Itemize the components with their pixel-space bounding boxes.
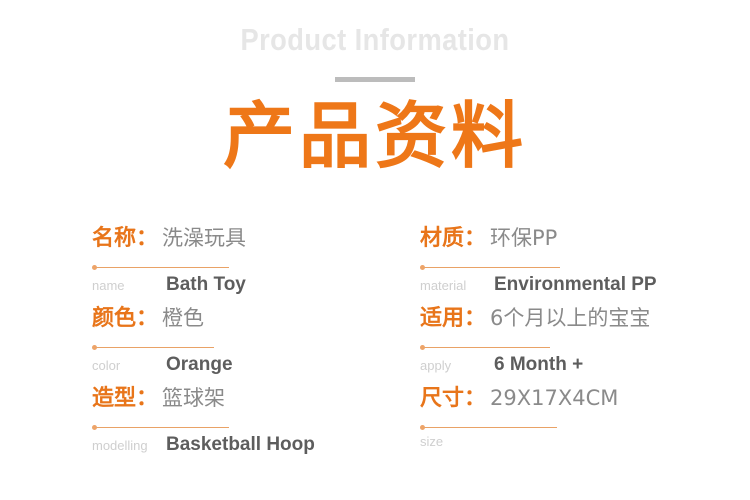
spec-value-modelling-en: Basketball Hoop <box>166 435 315 454</box>
spec-row-modelling: 造型： 篮球架 modelling Basketball Hoop <box>92 388 392 468</box>
spec-en-line: modelling Basketball Hoop <box>92 435 392 461</box>
underline-bar <box>422 427 557 428</box>
spec-value-color-cn: 橙色 <box>162 308 204 329</box>
spec-cn-line: 材质： 环保PP <box>420 228 730 258</box>
underline-dot <box>420 425 425 430</box>
spec-label-modelling-cn: 造型： <box>92 388 158 410</box>
spec-underline <box>92 264 392 272</box>
spec-cn-line: 名称： 洗澡玩具 <box>92 228 392 258</box>
spec-value-name-cn: 洗澡玩具 <box>162 228 246 249</box>
spec-underline <box>420 424 730 432</box>
spec-row-color: 颜色： 橙色 color Orange <box>92 308 392 388</box>
spec-label-color-en: color <box>92 359 166 372</box>
spec-column-right: 材质： 环保PP material Environmental PP 适用： 6… <box>420 228 730 468</box>
spec-cn-line: 尺寸： 29X17X4CM <box>420 388 730 418</box>
spec-value-color-en: Orange <box>166 355 233 374</box>
spec-underline <box>92 344 392 352</box>
underline-dot <box>420 345 425 350</box>
spec-cn-line: 造型： 篮球架 <box>92 388 392 418</box>
spec-underline <box>92 424 392 432</box>
page-title: 产品资料 <box>0 100 750 172</box>
underline-dot <box>420 265 425 270</box>
page-header: Product Information 产品资料 <box>0 0 750 172</box>
spec-value-name-en: Bath Toy <box>166 275 246 294</box>
spec-label-size-cn: 尺寸： <box>420 388 486 410</box>
spec-row-name: 名称： 洗澡玩具 name Bath Toy <box>92 228 392 308</box>
spec-value-modelling-cn: 篮球架 <box>162 388 225 409</box>
underline-dot <box>92 425 97 430</box>
underline-bar <box>422 267 560 268</box>
spec-en-line: color Orange <box>92 355 392 381</box>
spec-label-name-en: name <box>92 279 166 292</box>
underline-bar <box>94 427 229 428</box>
underline-dot <box>92 345 97 350</box>
spec-label-color-cn: 颜色： <box>92 308 158 330</box>
spec-en-line: material Environmental PP <box>420 275 730 301</box>
spec-row-apply: 适用： 6个月以上的宝宝 apply 6 Month + <box>420 308 730 388</box>
spec-label-apply-en: apply <box>420 359 494 372</box>
spec-cn-line: 颜色： 橙色 <box>92 308 392 338</box>
spec-cn-line: 适用： 6个月以上的宝宝 <box>420 308 730 338</box>
spec-value-apply-en: 6 Month + <box>494 355 583 374</box>
underline-dot <box>92 265 97 270</box>
spec-value-size-cn: 29X17X4CM <box>490 388 618 409</box>
spec-label-material-cn: 材质： <box>420 228 486 250</box>
spec-label-material-en: material <box>420 279 494 292</box>
spec-row-size: 尺寸： 29X17X4CM size <box>420 388 730 468</box>
spec-column-left: 名称： 洗澡玩具 name Bath Toy 颜色： 橙色 color <box>92 228 392 468</box>
header-divider <box>335 77 415 82</box>
spec-en-line: name Bath Toy <box>92 275 392 301</box>
spec-en-line: apply 6 Month + <box>420 355 730 381</box>
spec-label-modelling-en: modelling <box>92 439 166 452</box>
underline-bar <box>422 347 550 348</box>
spec-value-apply-cn: 6个月以上的宝宝 <box>490 308 650 329</box>
underline-bar <box>94 347 214 348</box>
spec-label-apply-cn: 适用： <box>420 308 486 330</box>
page-eyebrow-title: Product Information <box>45 24 705 55</box>
spec-underline <box>420 264 730 272</box>
spec-en-line: size <box>420 435 730 461</box>
underline-bar <box>94 267 229 268</box>
spec-value-material-en: Environmental PP <box>494 275 657 294</box>
spec-label-size-en: size <box>420 435 494 448</box>
spec-underline <box>420 344 730 352</box>
spec-label-name-cn: 名称： <box>92 228 158 250</box>
spec-value-material-cn: 环保PP <box>490 228 557 249</box>
spec-row-material: 材质： 环保PP material Environmental PP <box>420 228 730 308</box>
